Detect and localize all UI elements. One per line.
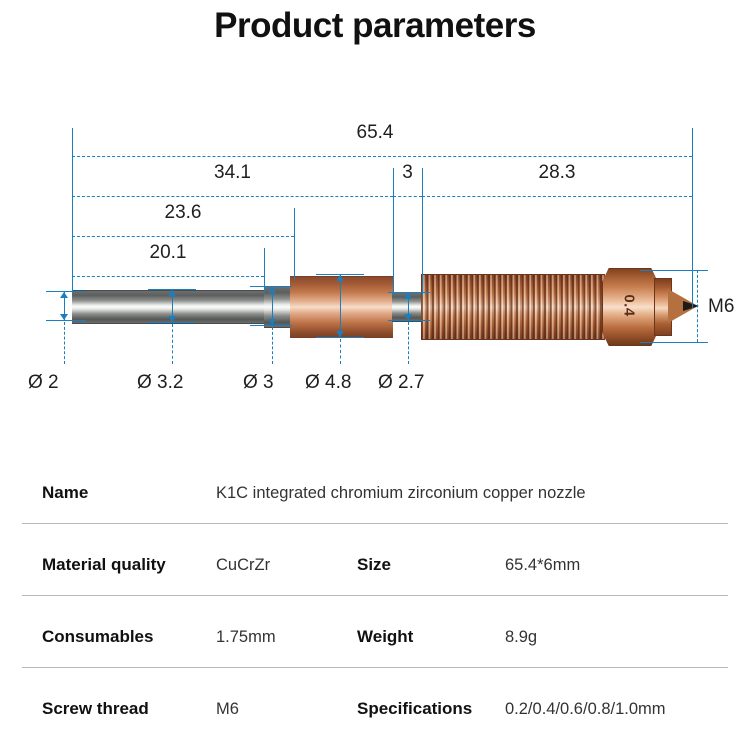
dia-arrowhead-27-up	[404, 293, 412, 299]
ext-line-23-6	[294, 208, 295, 280]
row-value-specifications: 0.2/0.4/0.6/0.8/1.0mm	[505, 700, 666, 719]
dia-cap-27-bot	[388, 320, 430, 321]
ext-line-neck-right	[422, 168, 423, 296]
row-divider	[22, 595, 728, 596]
specification-table: Name K1C integrated chromium zirconium c…	[0, 455, 750, 743]
row-label-size: Size	[357, 555, 391, 575]
dia-cap-48-bot	[316, 337, 364, 338]
leader-dia-3	[272, 327, 273, 364]
ext-line-right-end	[692, 128, 693, 308]
leader-dia-2	[64, 322, 65, 364]
dia-cap-2-bot	[46, 320, 86, 321]
dim-line-28-3	[422, 196, 692, 197]
dim-label-28-3: 28.3	[422, 162, 692, 184]
table-row: Screw thread M6 Specifications 0.2/0.4/0…	[0, 671, 750, 743]
ext-line-34-1	[393, 168, 394, 296]
leader-dia-27	[408, 322, 409, 364]
row-label-name: Name	[42, 483, 88, 503]
row-value-screw-thread: M6	[216, 700, 239, 719]
dia-label-2-7: Ø 2.7	[378, 372, 424, 394]
dim-line-34-1	[72, 196, 393, 197]
dia-arrow-48	[340, 274, 341, 337]
dia-cap-3-bot	[250, 325, 292, 326]
dia-label-3: Ø 3	[243, 372, 274, 394]
dia-arrowhead-27-dn	[404, 314, 412, 320]
table-row: Consumables 1.75mm Weight 8.9g	[0, 599, 750, 671]
dim-line-20-1	[72, 276, 264, 277]
nozzle-size-engraving: 0.4	[621, 289, 638, 323]
dia-arrowhead-48-dn	[336, 331, 344, 337]
dim-label-3: 3	[393, 162, 422, 184]
table-row: Name K1C integrated chromium zirconium c…	[0, 455, 750, 527]
page-title: Product parameters	[0, 6, 750, 46]
dia-label-2: Ø 2	[28, 372, 59, 394]
product-parameters-page: Product parameters 0.4	[0, 0, 750, 750]
row-label-material-quality: Material quality	[42, 555, 166, 575]
dia-arrowhead-48-up	[336, 275, 344, 281]
row-divider	[22, 667, 728, 668]
dim-line-23-6	[72, 236, 294, 237]
dia-cap-32-bot	[148, 322, 196, 323]
row-value-name: K1C integrated chromium zirconium copper…	[216, 484, 586, 503]
nozzle-dimension-diagram: 0.4 65.4 34.1 3 28.3 23.6 20.1	[0, 110, 750, 420]
row-label-weight: Weight	[357, 627, 413, 647]
m6-label: M6	[708, 296, 734, 318]
dim-label-34-1: 34.1	[72, 162, 393, 184]
threaded-section	[421, 274, 605, 340]
leader-dia-32	[172, 324, 173, 364]
dia-arrowhead-3-up	[268, 287, 276, 293]
row-value-material-quality: CuCrZr	[216, 556, 270, 575]
dia-arrowhead-2-dn	[60, 314, 68, 320]
row-value-consumables: 1.75mm	[216, 628, 276, 647]
row-label-consumables: Consumables	[42, 627, 153, 647]
dia-arrowhead-3-dn	[268, 319, 276, 325]
row-value-size: 65.4*6mm	[505, 556, 580, 575]
row-label-screw-thread: Screw thread	[42, 699, 149, 719]
dia-arrowhead-32-up	[168, 290, 176, 296]
dia-arrowhead-2-up	[60, 292, 68, 298]
copper-body	[290, 276, 393, 338]
dim-line-neck-3	[393, 196, 422, 197]
m6-cap-bot	[640, 342, 708, 343]
dia-label-3-2: Ø 3.2	[137, 372, 183, 394]
table-row: Material quality CuCrZr Size 65.4*6mm	[0, 527, 750, 599]
dim-label-65-4: 65.4	[0, 122, 750, 144]
dim-line-65-4	[72, 156, 692, 157]
dim-label-20-1: 20.1	[72, 242, 264, 264]
dim-label-23-6: 23.6	[72, 202, 294, 224]
row-divider	[22, 523, 728, 524]
m6-dim-line	[697, 270, 698, 342]
dia-arrowhead-32-dn	[168, 316, 176, 322]
leader-dia-48	[340, 339, 341, 364]
row-label-specifications: Specifications	[357, 699, 472, 719]
row-value-weight: 8.9g	[505, 628, 537, 647]
dia-label-4-8: Ø 4.8	[305, 372, 351, 394]
